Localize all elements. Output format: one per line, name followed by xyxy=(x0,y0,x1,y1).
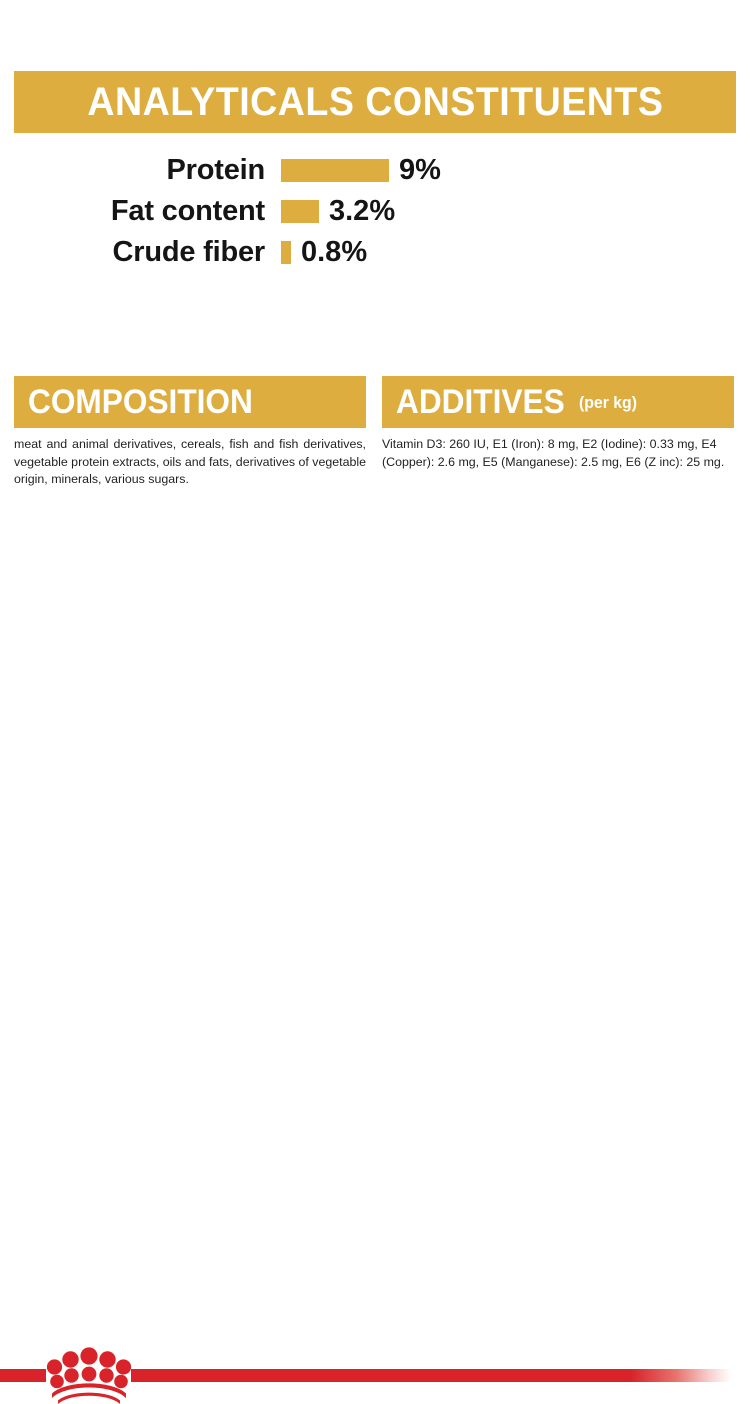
composition-title: COMPOSITION xyxy=(28,385,253,419)
chart-value-protein: 9% xyxy=(399,156,441,185)
brand-footer xyxy=(0,670,750,750)
chart-value-fat-content: 3.2% xyxy=(329,197,395,226)
page-title: ANALYTICALS CONSTITUENTS xyxy=(87,82,663,122)
additives-header: ADDITIVES (per kg) xyxy=(382,376,734,428)
chart-label-fat-content: Fat content xyxy=(0,197,265,226)
composition-header: COMPOSITION xyxy=(14,376,366,428)
additives-title: ADDITIVES xyxy=(396,385,565,419)
chart-value-crude-fiber: 0.8% xyxy=(301,238,367,267)
footer-rule-left xyxy=(0,1369,46,1382)
chart-row: Protein 9% xyxy=(0,150,500,191)
chart-bar-crude-fiber xyxy=(281,241,291,264)
analytical-constituents-chart: Protein 9% Fat content 3.2% Crude fiber … xyxy=(0,150,500,273)
additives-panel: ADDITIVES (per kg) Vitamin D3: 260 IU, E… xyxy=(382,376,734,489)
chart-bar-group-fat-content: 3.2% xyxy=(281,197,395,226)
chart-bar-group-protein: 9% xyxy=(281,156,441,185)
footer-rule-right xyxy=(131,1369,750,1382)
chart-row: Fat content 3.2% xyxy=(0,191,500,232)
analytical-constituents-banner: ANALYTICALS CONSTITUENTS xyxy=(14,71,736,133)
chart-bar-protein xyxy=(281,159,389,182)
chart-label-protein: Protein xyxy=(0,156,265,185)
nutrition-info-panel: ANALYTICALS CONSTITUENTS Protein 9% Fat … xyxy=(0,0,750,750)
detail-panels: COMPOSITION meat and animal derivatives,… xyxy=(14,376,736,489)
chart-bar-group-crude-fiber: 0.8% xyxy=(281,238,367,267)
additives-body: Vitamin D3: 260 IU, E1 (Iron): 8 mg, E2 … xyxy=(382,436,734,471)
additives-unit-note: (per kg) xyxy=(579,394,637,411)
chart-label-crude-fiber: Crude fiber xyxy=(0,238,265,267)
composition-body: meat and animal derivatives, cereals, fi… xyxy=(14,436,366,489)
composition-panel: COMPOSITION meat and animal derivatives,… xyxy=(14,376,366,489)
chart-row: Crude fiber 0.8% xyxy=(0,232,500,273)
royal-canin-crown-icon xyxy=(46,1346,132,1404)
chart-bar-fat-content xyxy=(281,200,319,223)
